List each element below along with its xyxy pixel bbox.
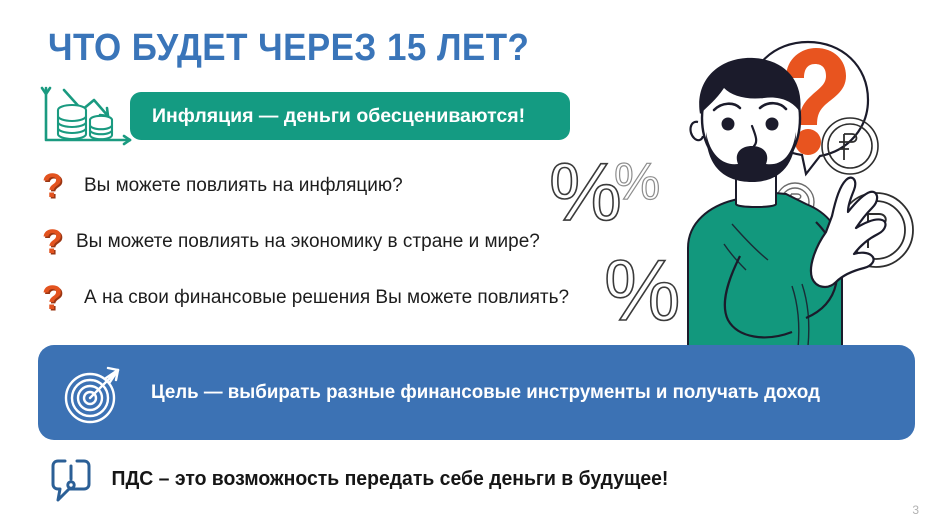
confused-man-with-rubles-illustration — [636, 8, 937, 368]
inflation-banner: Инфляция — деньги обесцениваются! — [130, 92, 570, 140]
question-mark-icon: ? — [42, 169, 72, 203]
percent-symbol-icon: % — [549, 152, 622, 234]
declining-chart-coins-icon — [38, 82, 138, 148]
slide-canvas: ЧТО БУДЕТ ЧЕРЕЗ 15 ЛЕТ? Инфляция — деньг… — [0, 0, 937, 527]
question-label: Вы можете повлиять на инфляцию? — [72, 175, 403, 197]
question-item: ? Вы можете повлиять на инфляцию? — [42, 166, 403, 206]
target-arrow-icon — [60, 360, 126, 426]
question-mark-icon: ? — [42, 225, 72, 259]
pds-label: ПДС – это возможность передать себе день… — [96, 468, 668, 491]
question-label: А на свои финансовые решения Вы можете п… — [72, 287, 569, 309]
question-item: ? Вы можете повлиять на экономику в стра… — [42, 222, 540, 262]
inflation-banner-label: Инфляция — деньги обесцениваются! — [130, 105, 525, 128]
speech-bubble-exclamation-icon — [46, 454, 96, 504]
goal-banner: Цель — выбирать разные финансовые инстру… — [38, 345, 915, 440]
question-label: Вы можете повлиять на экономику в стране… — [72, 231, 540, 253]
goal-label: Цель — выбирать разные финансовые инстру… — [126, 381, 820, 404]
pds-row: ПДС – это возможность передать себе день… — [46, 450, 686, 508]
page-number: 3 — [912, 503, 919, 517]
page-title: ЧТО БУДЕТ ЧЕРЕЗ 15 ЛЕТ? — [48, 26, 529, 70]
question-item: ? А на свои финансовые решения Вы можете… — [42, 278, 569, 318]
question-mark-icon: ? — [42, 281, 72, 315]
